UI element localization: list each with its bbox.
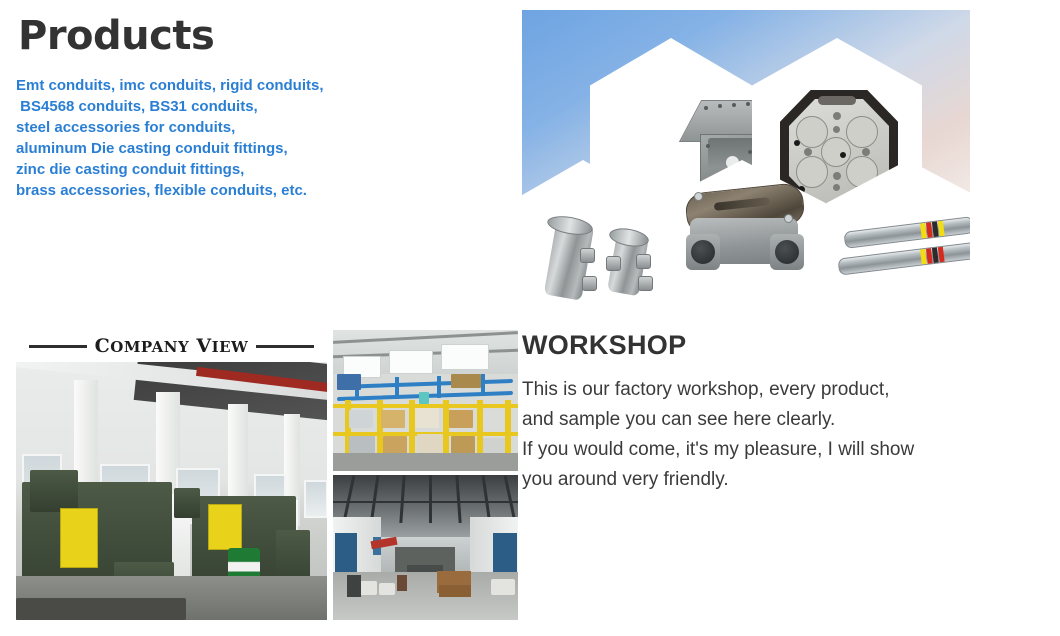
products-list-line: Emt conduits, imc conduits, rigid condui…: [16, 75, 486, 96]
banner-rule-left: [29, 345, 87, 348]
banner-rule-right: [256, 345, 314, 348]
products-list-line: BS4568 conduits, BS31 conduits,: [16, 96, 486, 117]
banner-smallcaps-ompany: OMPANY: [110, 338, 189, 356]
emt-compression-connector-art: [612, 234, 644, 294]
products-list-line: brass accessories, flexible conduits, et…: [16, 180, 486, 201]
products-list-line: steel accessories for conduits,: [16, 117, 486, 138]
lb-conduit-body-art: [680, 188, 808, 286]
products-list-line: aluminum Die casting conduit fittings,: [16, 138, 486, 159]
products-list-line: zinc die casting conduit fittings,: [16, 159, 486, 180]
warehouse-racking-photo: [333, 330, 518, 471]
workshop-line: and sample you can see here clearly.: [522, 405, 1032, 435]
workshop-description: This is our factory workshop, every prod…: [522, 375, 1032, 495]
page-title: Products: [18, 14, 214, 58]
banner-cap-c: C: [95, 335, 111, 357]
products-list: Emt conduits, imc conduits, rigid condui…: [16, 75, 486, 201]
page-root: Products Emt conduits, imc conduits, rig…: [0, 0, 1060, 636]
hexagon-frames: [522, 10, 970, 305]
company-view-banner: COMPANY VIEW: [16, 330, 327, 362]
workshop-line: you around very friendly.: [522, 465, 1032, 495]
right-photo-column: [333, 330, 518, 620]
workshop-line: If you would come, it's my pleasure, I w…: [522, 435, 1032, 465]
conduit-pipes-art: [836, 216, 970, 286]
product-collage-image: [522, 10, 970, 305]
die-casting-workshop-photo: [16, 362, 327, 620]
factory-corridor-photo: [333, 475, 518, 620]
workshop-heading: WORKSHOP: [522, 330, 686, 361]
banner-cap-v: V: [196, 335, 211, 357]
workshop-line: This is our factory workshop, every prod…: [522, 375, 1032, 405]
banner-smallcaps-iew: IEW: [212, 338, 249, 356]
company-view-label: COMPANY VIEW: [95, 335, 249, 357]
company-view-photo: COMPANY VIEW: [16, 330, 327, 620]
emt-set-screw-coupling-art: [550, 222, 588, 298]
